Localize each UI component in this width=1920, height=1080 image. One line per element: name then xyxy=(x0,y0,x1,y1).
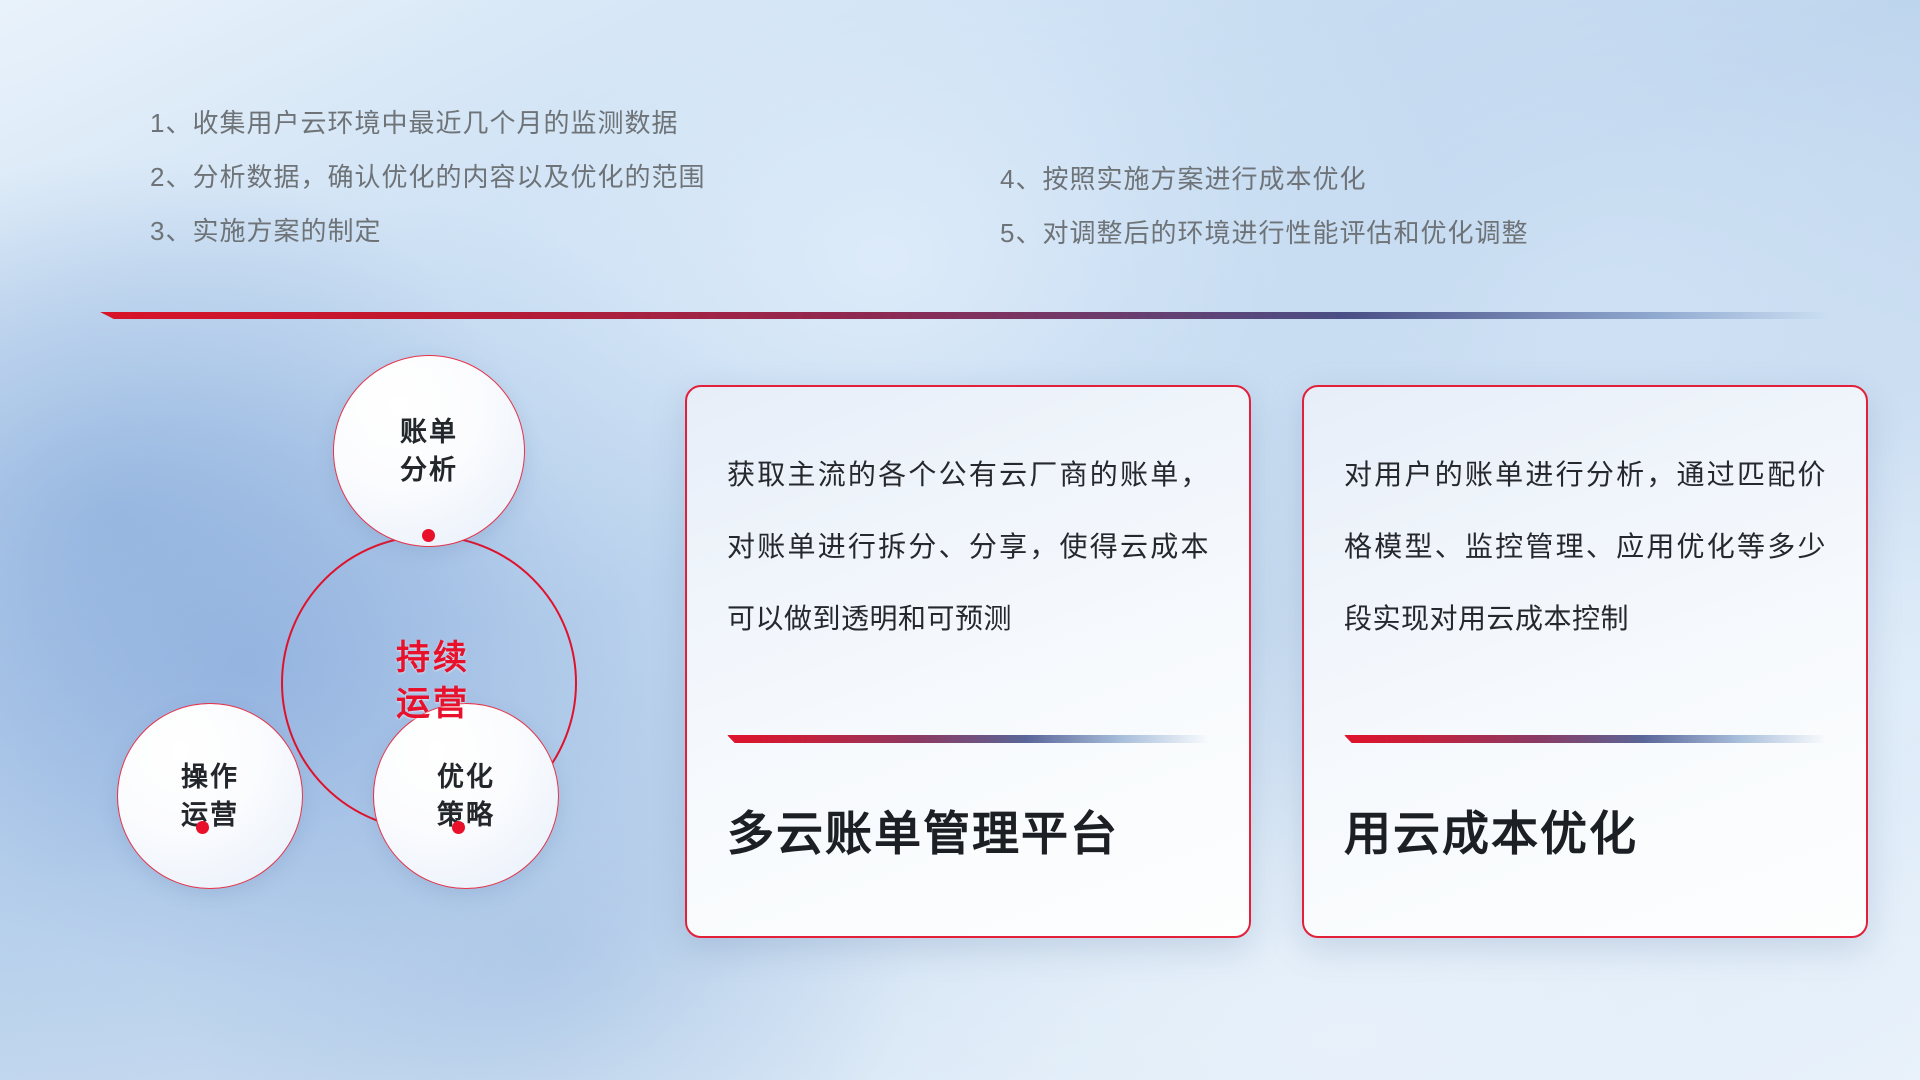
bullet-item: 2、分析数据，确认优化的内容以及优化的范围 xyxy=(150,150,850,204)
venn-bubble-bill-analysis[interactable]: 账单 分析 xyxy=(333,355,525,547)
venn-diagram: 账单 分析 操作 运营 优化 策略 持续 运营 xyxy=(95,355,615,935)
bullet-item: 5、对调整后的环境进行性能评估和优化调整 xyxy=(1000,206,1720,260)
venn-bubble-label-line1: 账单 xyxy=(400,413,458,451)
venn-bubble-label-line2: 分析 xyxy=(400,451,458,489)
feature-card-cost-optimization[interactable]: 对用户的账单进行分析，通过匹配价格模型、监控管理、应用优化等多少段实现对用云成本… xyxy=(1302,385,1868,938)
card-body-text: 获取主流的各个公有云厂商的账单，对账单进行拆分、分享，使得云成本可以做到透明和可… xyxy=(727,439,1209,655)
section-divider xyxy=(100,312,1830,319)
venn-bubble-operations[interactable]: 操作 运营 xyxy=(117,703,303,889)
card-title: 用云成本优化 xyxy=(1344,743,1826,936)
bullet-item: 1、收集用户云环境中最近几个月的监测数据 xyxy=(150,96,850,150)
venn-node-dot-left xyxy=(196,821,209,834)
card-title: 多云账单管理平台 xyxy=(727,743,1209,936)
venn-center-line1: 持续 xyxy=(343,635,523,681)
venn-bubble-label-line1: 优化 xyxy=(437,758,495,796)
bullet-list-right: 4、按照实施方案进行成本优化 5、对调整后的环境进行性能评估和优化调整 xyxy=(1000,152,1720,260)
venn-bubble-label-line2: 策略 xyxy=(437,796,495,834)
card-body-text: 对用户的账单进行分析，通过匹配价格模型、监控管理、应用优化等多少段实现对用云成本… xyxy=(1344,439,1826,655)
bullet-list-left: 1、收集用户云环境中最近几个月的监测数据 2、分析数据，确认优化的内容以及优化的… xyxy=(150,96,850,258)
venn-bubble-optimization-strategy[interactable]: 优化 策略 xyxy=(373,703,559,889)
venn-bubble-label-line2: 运营 xyxy=(181,796,239,834)
venn-bubble-label-line1: 操作 xyxy=(181,758,239,796)
venn-center-label: 持续 运营 xyxy=(343,635,523,727)
venn-node-dot-right xyxy=(452,821,465,834)
venn-node-dot-top xyxy=(422,529,435,542)
feature-card-multicloud-billing[interactable]: 获取主流的各个公有云厂商的账单，对账单进行拆分、分享，使得云成本可以做到透明和可… xyxy=(685,385,1251,938)
card-divider xyxy=(727,735,1209,743)
card-divider xyxy=(1344,735,1826,743)
bullet-item: 4、按照实施方案进行成本优化 xyxy=(1000,152,1720,206)
bullet-item: 3、实施方案的制定 xyxy=(150,204,850,258)
venn-center-line2: 运营 xyxy=(343,681,523,727)
